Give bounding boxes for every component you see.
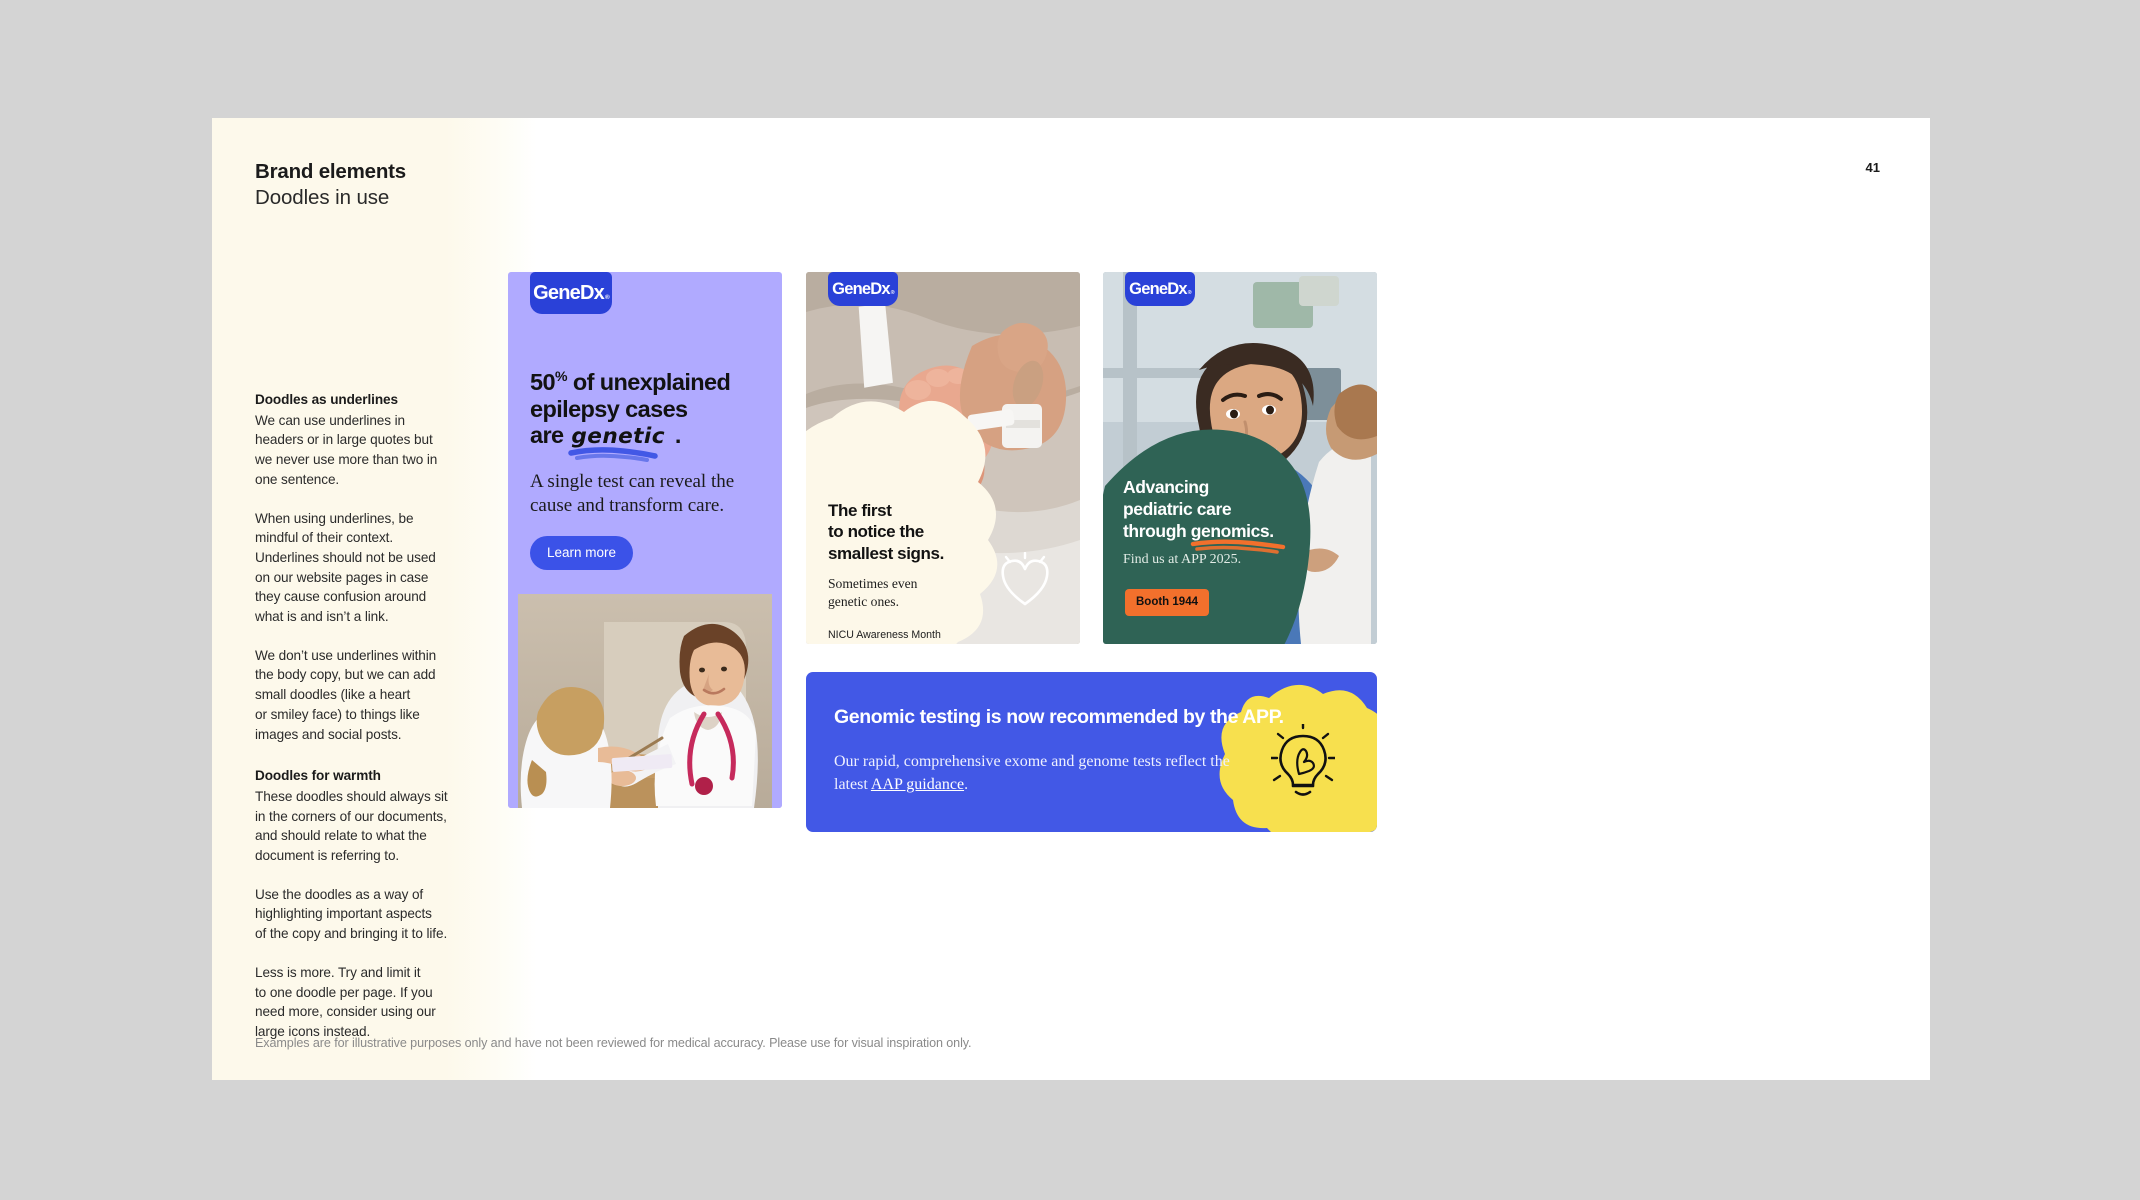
genedx-dx-mark: Dx xyxy=(580,282,604,305)
examples-grid: GeneDx® 50% of unexplained epilepsy case… xyxy=(212,118,1930,1080)
genedx-logo: GeneDx® xyxy=(828,272,898,306)
genedx-dx-mark: Dx xyxy=(1167,280,1187,299)
blue-underline-doodle-icon xyxy=(567,446,659,462)
genedx-wordmark: Gene xyxy=(1129,280,1167,299)
card-photo-doctor-child xyxy=(508,570,782,808)
genedx-logo: GeneDx® xyxy=(530,272,612,314)
card3-headline-line2: pediatric care xyxy=(1123,499,1231,519)
card2-copy-block: The first to notice the smallest signs. … xyxy=(828,500,988,644)
learn-more-button[interactable]: Learn more xyxy=(530,536,633,570)
genedx-trademark: ® xyxy=(891,290,894,296)
card3-copy-block: Advancing pediatric care through genomic… xyxy=(1123,476,1303,568)
genedx-logo: GeneDx® xyxy=(1125,272,1195,306)
genedx-dx-mark: Dx xyxy=(870,280,890,299)
card3-headline-line3-pre: through xyxy=(1123,521,1191,541)
genedx-wordmark: Gene xyxy=(832,280,870,299)
aap-guidance-link[interactable]: AAP guidance xyxy=(871,776,964,793)
lightbulb-doodle-icon xyxy=(1271,724,1335,798)
card1-doodle-underlined-word: genetic xyxy=(569,424,674,449)
aap-banner[interactable]: Genomic testing is now recommended by th… xyxy=(806,672,1377,832)
banner-body-post: . xyxy=(964,776,968,793)
card2-tagline: NICU Awareness Month x Neonatal Nurses W… xyxy=(828,628,988,644)
booth-badge-button[interactable]: Booth 1944 xyxy=(1125,589,1209,616)
card3-headline-line1: Advancing xyxy=(1123,477,1209,497)
orange-underline-doodle-icon xyxy=(1189,538,1289,554)
card1-stat-number: 50 xyxy=(530,369,555,395)
card2-headline: The first to notice the smallest signs. xyxy=(828,500,988,564)
epilepsy-card[interactable]: GeneDx® 50% of unexplained epilepsy case… xyxy=(508,272,782,808)
card3-headline: Advancing pediatric care through genomic… xyxy=(1123,476,1303,542)
card1-headline-period: . xyxy=(675,422,681,448)
card1-subtext: A single test can reveal the cause and t… xyxy=(530,470,762,518)
genedx-trademark: ® xyxy=(605,294,609,301)
slide-canvas: Brand elements Doodles in use Doodles as… xyxy=(212,118,1930,1080)
card2-subtext: Sometimes even genetic ones. xyxy=(828,575,988,610)
card1-stat-percent: % xyxy=(555,368,567,384)
card3-doodle-underlined-word: genomics xyxy=(1191,520,1270,542)
heart-doodle-icon xyxy=(998,552,1052,608)
pediatric-care-card[interactable]: GeneDx® Advancing pediatric care through… xyxy=(1103,272,1377,644)
genedx-wordmark: Gene xyxy=(533,282,580,305)
banner-headline: Genomic testing is now recommended by th… xyxy=(834,706,1304,729)
banner-subtext: Our rapid, comprehensive exome and genom… xyxy=(834,751,1254,796)
nicu-card[interactable]: GeneDx® The first to notice the smallest… xyxy=(806,272,1080,644)
genedx-trademark: ® xyxy=(1188,290,1191,296)
card1-headline: 50% of unexplained epilepsy cases are ge… xyxy=(530,368,768,450)
card3-subtext: Find us at APP 2025. xyxy=(1123,552,1303,568)
